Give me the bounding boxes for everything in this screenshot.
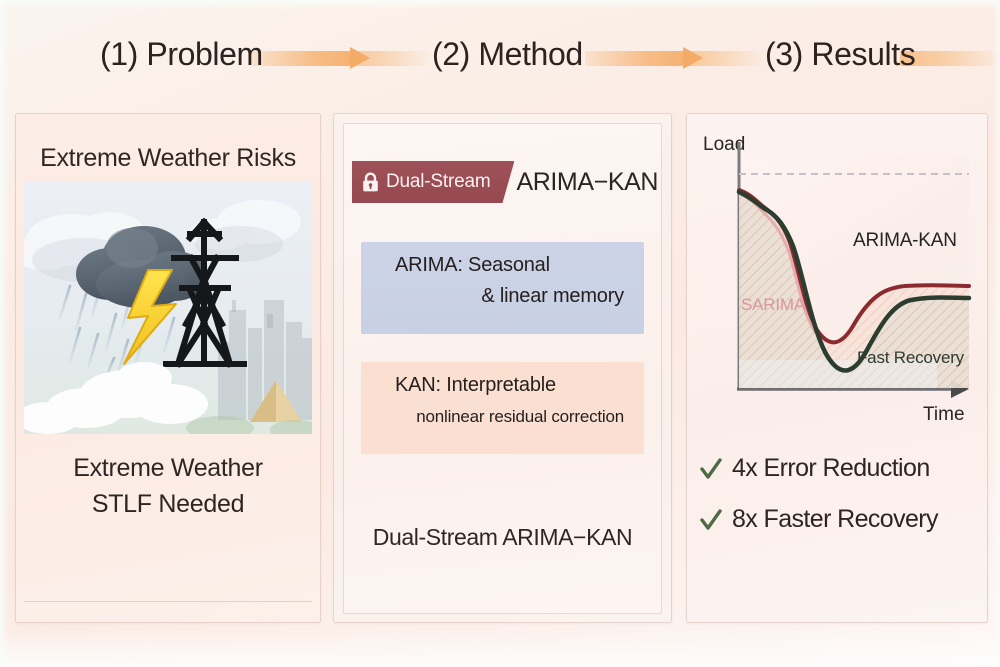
section-title-problem: (1) Problem	[100, 36, 263, 73]
arrow-head	[683, 47, 703, 69]
panel-method: Dual-Stream ARIMA−KAN ARIMA: Seasonal & …	[333, 113, 672, 623]
arima-box: ARIMA: Seasonal & linear memory	[361, 242, 644, 334]
problem-caption: Extreme Weather STLF Needed	[16, 450, 320, 522]
chart-xlabel: Time	[923, 404, 965, 425]
panel-results: Load ARIMA-KA	[686, 113, 988, 623]
panel-problem: Extreme Weather Risks	[15, 113, 321, 623]
panel-divider	[24, 601, 312, 602]
result-item-1-label: 4x Error Reduction	[732, 454, 930, 483]
arrow-shaft	[250, 51, 350, 66]
arrow-head	[350, 47, 370, 69]
results-list: 4x Error Reduction 8x Faster Recovery	[699, 454, 975, 556]
lock-icon	[362, 172, 379, 192]
check-icon	[699, 508, 723, 532]
storm-illustration	[24, 182, 312, 434]
header-row: (1) Problem (2) Method (3) Results	[0, 0, 1000, 100]
arima-box-line-1: ARIMA: Seasonal	[377, 254, 628, 277]
method-banner: Dual-Stream ARIMA−KAN	[352, 161, 658, 203]
right-arrow-icon-1	[250, 47, 370, 69]
storm-illustration-svg	[24, 182, 312, 434]
infographic-poster: (1) Problem (2) Method (3) Results Extre…	[0, 0, 1000, 667]
problem-caption-line-2: STLF Needed	[16, 486, 320, 522]
dual-stream-tag: Dual-Stream	[352, 161, 514, 203]
method-footer-label: Dual-Stream ARIMA−KAN	[344, 524, 661, 551]
check-icon	[699, 457, 723, 481]
method-inner-frame: Dual-Stream ARIMA−KAN ARIMA: Seasonal & …	[343, 123, 662, 614]
result-item-2-label: 8x Faster Recovery	[732, 505, 938, 534]
chart-annotation-fast-recovery: Fast Recovery	[857, 348, 965, 367]
kan-box: KAN: Interpretable nonlinear residual co…	[361, 362, 644, 454]
section-title-method: (2) Method	[432, 36, 583, 73]
dual-stream-tag-label: Dual-Stream	[386, 171, 490, 193]
recovery-chart-svg: Load ARIMA-KA	[701, 128, 973, 438]
kan-box-line-2: nonlinear residual correction	[377, 407, 628, 427]
arima-box-line-2: & linear memory	[377, 285, 628, 308]
chart-annotation-sarima: SARIMA	[741, 295, 806, 314]
chart-annotation-arima-kan: ARIMA-KAN	[853, 230, 957, 251]
recovery-chart: Load ARIMA-KA	[701, 128, 973, 438]
section-title-results: (3) Results	[765, 36, 915, 73]
problem-title: Extreme Weather Risks	[16, 144, 320, 173]
method-banner-title: ARIMA−KAN	[516, 168, 658, 197]
right-arrow-icon-2	[585, 47, 703, 69]
arrow-shaft	[585, 51, 683, 66]
problem-caption-line-1: Extreme Weather	[16, 450, 320, 486]
result-item-2: 8x Faster Recovery	[699, 505, 975, 534]
result-item-1: 4x Error Reduction	[699, 454, 975, 483]
kan-box-line-1: KAN: Interpretable	[377, 374, 628, 397]
